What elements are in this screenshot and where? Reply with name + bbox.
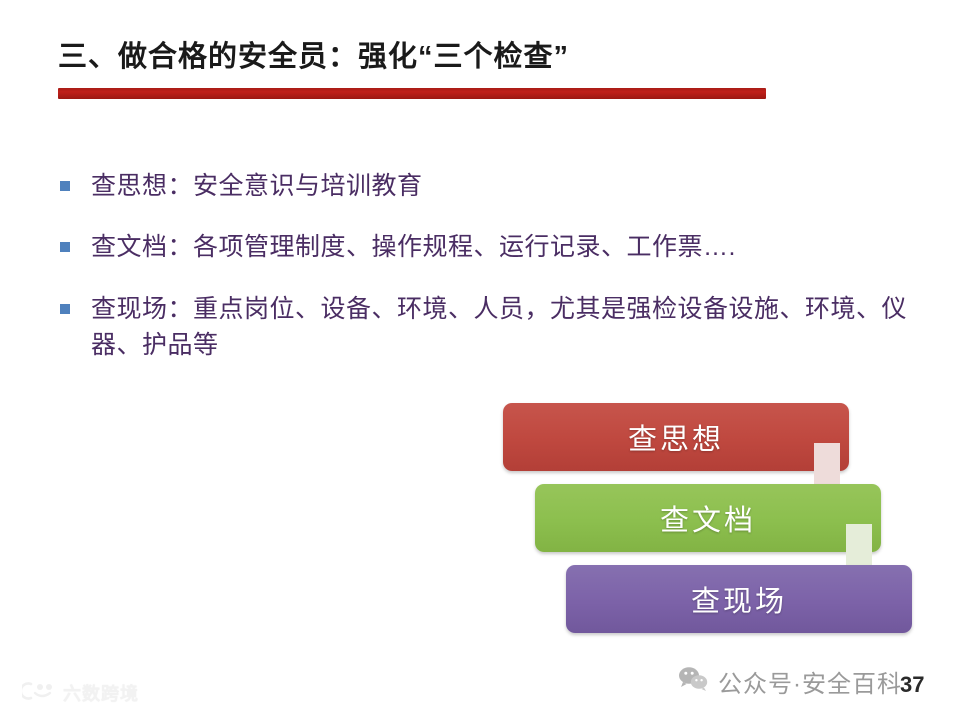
page-number: 37 [900, 672, 924, 698]
bullet-list: 查思想：安全意识与培训教育 查文档：各项管理制度、操作规程、运行记录、工作票….… [60, 168, 930, 388]
flow-box-cha-wen-dang[interactable]: 查文档 [535, 484, 881, 552]
brand-name-label: 六数跨境 [63, 680, 139, 706]
list-item-label: 查思想：安全意识与培训教育 [91, 168, 930, 204]
brand-logo: 六数跨境 [22, 680, 139, 706]
flow-box-cha-si-xiang[interactable]: 查思想 [503, 403, 849, 471]
list-item: 查现场：重点岗位、设备、环境、人员，尤其是强检设备设施、环境、仪器、护品等 [60, 291, 930, 364]
list-item: 查思想：安全意识与培训教育 [60, 168, 930, 204]
brand-mark-icon [22, 681, 56, 706]
title-block: 三、做合格的安全员：强化“三个检查” [58, 40, 818, 75]
flow-box-label: 查文档 [660, 497, 756, 539]
square-bullet-icon [60, 181, 70, 191]
flow-box-label: 查思想 [628, 416, 724, 458]
wechat-credit: 公众号·安全百科 [678, 664, 902, 699]
flow-box-cha-xian-chang[interactable]: 查现场 [566, 565, 912, 633]
title-underline-rule [58, 88, 766, 99]
slide-canvas: 三、做合格的安全员：强化“三个检查” 查思想：安全意识与培训教育 查文档：各项管… [0, 0, 960, 720]
wechat-credit-label: 公众号·安全百科 [718, 664, 902, 699]
square-bullet-icon [60, 242, 70, 252]
flow-box-label: 查现场 [691, 578, 787, 620]
list-item-label: 查文档：各项管理制度、操作规程、运行记录、工作票…. [91, 229, 930, 265]
square-bullet-icon [60, 304, 70, 314]
wechat-icon [678, 666, 708, 697]
list-item: 查文档：各项管理制度、操作规程、运行记录、工作票…. [60, 229, 930, 265]
list-item-label: 查现场：重点岗位、设备、环境、人员，尤其是强检设备设施、环境、仪器、护品等 [91, 291, 930, 364]
page-title: 三、做合格的安全员：强化“三个检查” [58, 40, 818, 75]
